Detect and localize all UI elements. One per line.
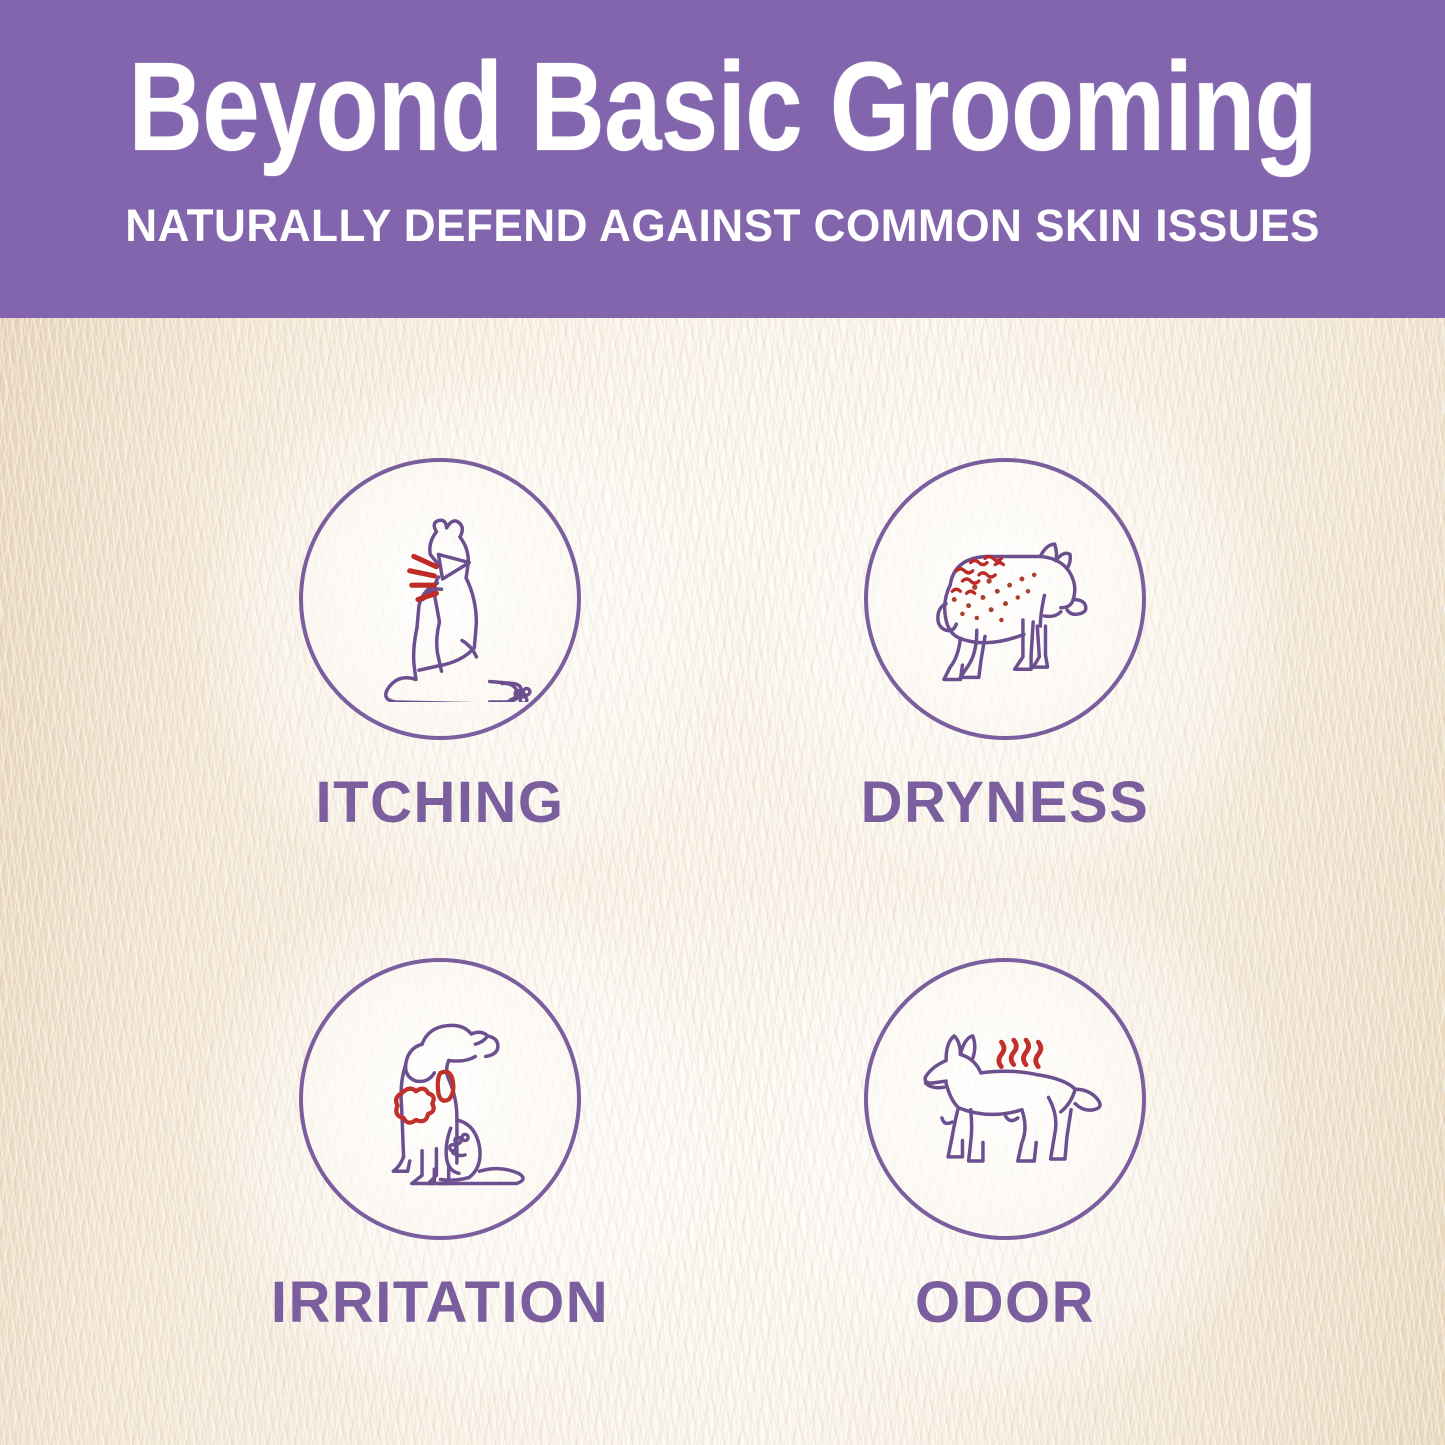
symptom-icon-grid: ITCHING (0, 318, 1445, 1445)
icon-circle-irritation (299, 958, 581, 1240)
page-subtitle: NATURALLY DEFEND AGAINST COMMON SKIN ISS… (125, 200, 1320, 252)
icon-circle-dryness (864, 458, 1146, 740)
dog-flaky-skin-icon (903, 497, 1108, 702)
symptom-label-dryness: DRYNESS (785, 774, 1225, 832)
symptom-item-dryness[interactable]: DRYNESS (785, 458, 1225, 832)
dog-scratching-icon (338, 497, 543, 702)
icon-circle-itching (299, 458, 581, 740)
symptom-label-itching: ITCHING (220, 774, 660, 832)
promo-poster: Beyond Basic Grooming NATURALLY DEFEND A… (0, 0, 1445, 1445)
symptom-item-odor[interactable]: ODOR (785, 958, 1225, 1332)
symptom-label-odor: ODOR (785, 1274, 1225, 1332)
symptom-item-irritation[interactable]: IRRITATION (220, 958, 660, 1332)
page-title: Beyond Basic Grooming (128, 44, 1316, 170)
dog-sitting-irritation-icon (338, 997, 543, 1202)
symptom-item-itching[interactable]: ITCHING (220, 458, 660, 832)
dog-odor-icon (903, 997, 1108, 1202)
symptom-label-irritation: IRRITATION (220, 1274, 660, 1332)
icon-circle-odor (864, 958, 1146, 1240)
header-banner: Beyond Basic Grooming NATURALLY DEFEND A… (0, 0, 1445, 318)
